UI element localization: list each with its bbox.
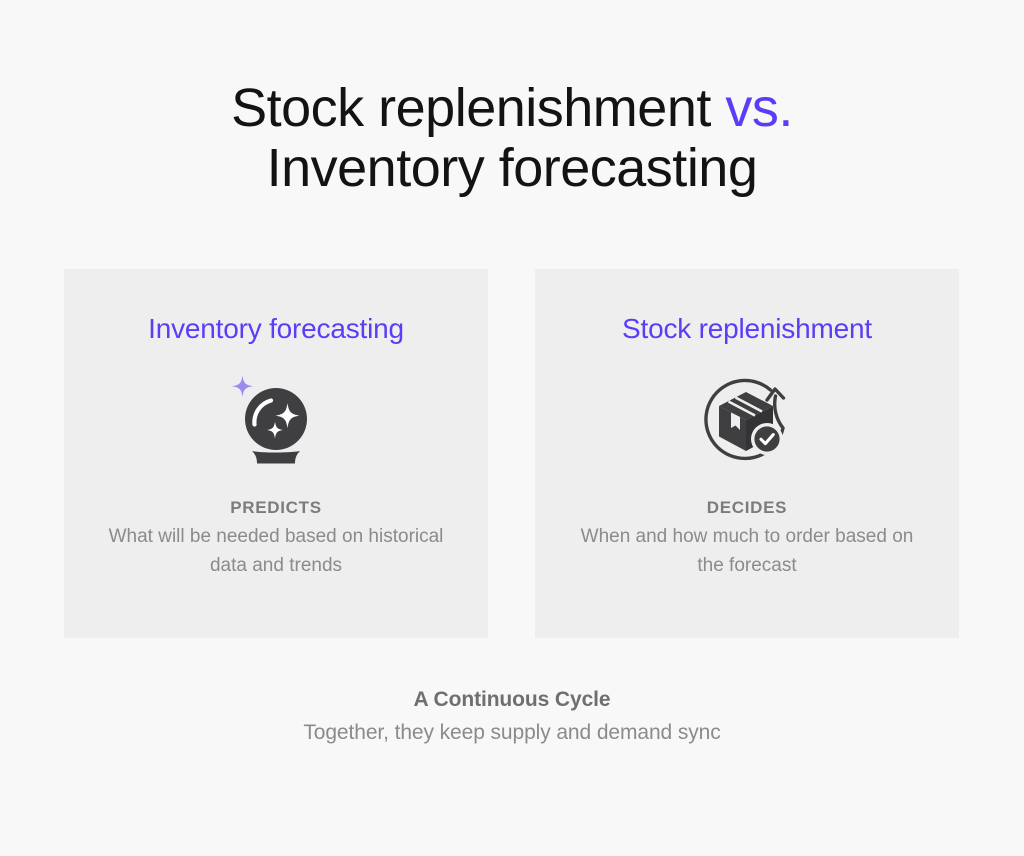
- page-title-line-1: Stock replenishment vs.: [0, 78, 1024, 138]
- footer-subtext: Together, they keep supply and demand sy…: [0, 721, 1024, 745]
- package-refresh-check-icon: [695, 370, 799, 474]
- page-title-line-1-plain: Stock replenishment: [231, 78, 725, 138]
- page-title-accent-vs: vs.: [725, 78, 793, 138]
- crystal-ball-icon: [224, 370, 328, 474]
- crystal-ball-stand: [252, 451, 300, 464]
- card-stock-replenishment[interactable]: Stock replenishment: [535, 269, 959, 638]
- check-badge-circle: [754, 427, 779, 452]
- sparkle-outer-purple: [232, 376, 253, 397]
- page-title-line-2: Inventory forecasting: [0, 138, 1024, 198]
- footer: A Continuous Cycle Together, they keep s…: [0, 688, 1024, 745]
- card-inventory-forecasting[interactable]: Inventory forecasting PREDICTS What will…: [64, 269, 488, 638]
- card-title: Stock replenishment: [587, 309, 907, 348]
- card-title: Inventory forecasting: [116, 309, 436, 348]
- card-description: What will be needed based on historical …: [96, 523, 456, 581]
- card-kicker: DECIDES: [707, 498, 787, 518]
- card-description: When and how much to order based on the …: [567, 523, 927, 581]
- card-kicker: PREDICTS: [230, 498, 322, 518]
- footer-heading: A Continuous Cycle: [0, 688, 1024, 712]
- page-title: Stock replenishment vs. Inventory foreca…: [0, 78, 1024, 199]
- comparison-cards: Inventory forecasting PREDICTS What will…: [64, 269, 960, 638]
- infographic-page: Stock replenishment vs. Inventory foreca…: [0, 0, 1024, 856]
